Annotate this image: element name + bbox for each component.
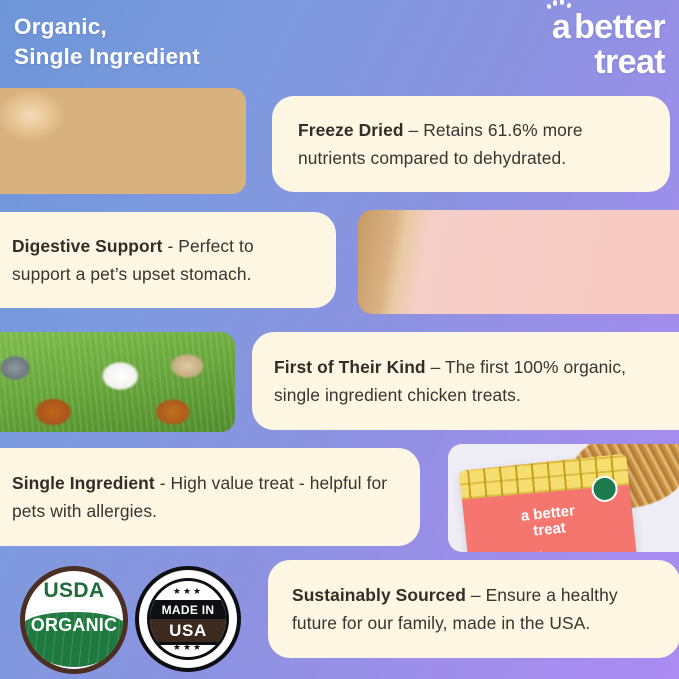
usda-organic-badge: USDA ORGANIC [20,566,128,674]
stars-bottom-icon: ★★★ [150,642,226,653]
logo-word-better: better [574,10,665,45]
feature-card-digestive-support: Digestive Support - Perfect to support a… [0,212,336,308]
feature-dash-2: – [426,357,445,377]
feature-title-freeze-dried: Freeze Dried [298,120,404,140]
feature-title-sustainably-sourced: Sustainably Sourced [292,585,466,605]
paw-toes-icon [547,0,573,11]
bag-logo-a: a [520,507,530,525]
paw-print-icon: a [552,10,570,45]
page-title: Organic, Single Ingredient [14,12,200,72]
photo-product-pouch: a better treat ORGANIC CHI [448,444,679,552]
promo-graphic: Organic, Single Ingredient a better trea… [0,0,679,679]
feature-title-digestive-support: Digestive Support [12,236,163,256]
bag-subtitle: ORGANIC CHI [472,550,544,552]
made-in-usa-badge: ★★★ MADE IN USA ★★★ [135,566,241,672]
feature-dash-3: - [155,473,171,493]
feature-card-freeze-dried: Freeze Dried – Retains 61.6% more nutrie… [272,96,670,192]
photo-raw-chicken-breast [358,210,679,314]
logo-word-treat: treat [552,45,665,80]
photo-freeze-dried-chicken [0,88,246,194]
usda-badge-top-text: USDA [25,579,123,603]
feature-card-sustainably-sourced: Sustainably Sourced – Ensure a healthy f… [268,560,679,658]
headline-line-1: Organic, [14,12,200,42]
bag-brand-logo: a better treat [477,499,620,545]
logo-letter-a: a [552,8,570,46]
feature-dash-4: – [466,585,486,605]
brand-logo: a better treat [552,10,665,79]
photo-free-range-chickens [0,332,235,432]
feature-card-single-ingredient: Single Ingredient - High value treat - h… [0,448,420,546]
made-in-usa-inner-ring: ★★★ MADE IN USA ★★★ [147,578,229,660]
headline-line-2: Single Ingredient [14,42,200,72]
feature-dash-0: – [404,120,424,140]
made-in-usa-line-1: MADE IN [150,600,226,619]
feature-dash-1: - [163,236,179,256]
feature-card-first-of-their-kind: First of Their Kind – The first 100% org… [252,332,679,430]
feature-title-single-ingredient: Single Ingredient [12,473,155,493]
product-bag: a better treat ORGANIC CHI [459,454,637,552]
feature-title-first-of-their-kind: First of Their Kind [274,357,426,377]
usda-badge-bottom-text: ORGANIC [25,615,123,636]
stars-top-icon: ★★★ [150,586,226,597]
